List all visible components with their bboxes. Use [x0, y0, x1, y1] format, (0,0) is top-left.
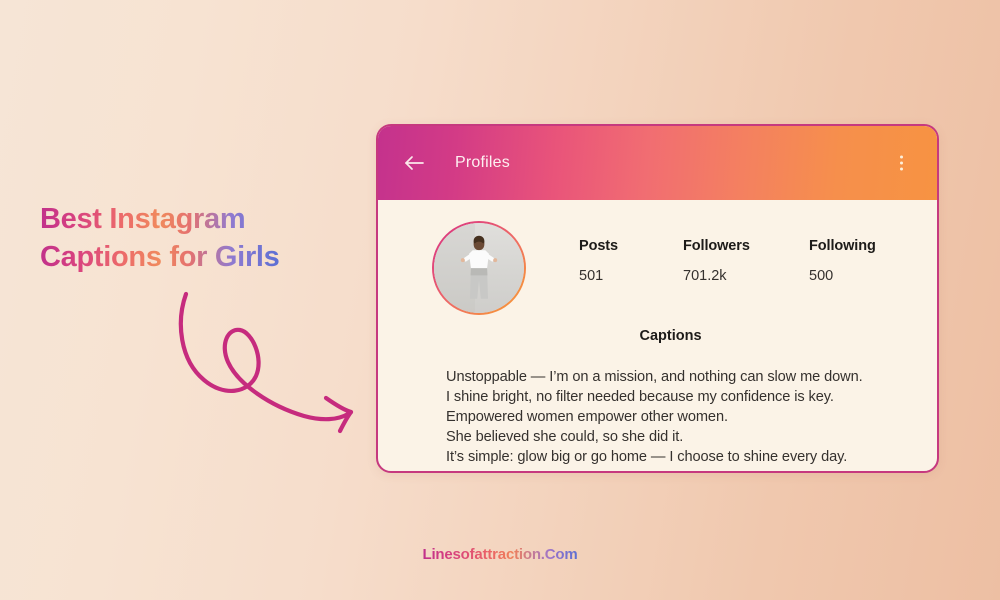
page-title-line-2: Captions for Girls	[40, 238, 280, 276]
stats-row: Posts 501 Followers 701.2k Following 500	[579, 221, 937, 284]
stat-value: 500	[809, 268, 876, 284]
card-body: Posts 501 Followers 701.2k Following 500…	[378, 200, 937, 473]
more-options-icon[interactable]	[894, 152, 909, 175]
stat-posts: Posts 501	[579, 238, 683, 284]
footer-brand: Linesofattraction.Com	[0, 546, 1000, 563]
list-item: She believed she could, so she did it.	[446, 428, 937, 448]
stat-label: Followers	[683, 238, 809, 254]
header-title: Profiles	[455, 154, 510, 172]
stat-following: Following 500	[809, 238, 876, 284]
avatar[interactable]	[432, 221, 526, 315]
back-arrow-icon[interactable]	[402, 153, 426, 173]
list-item: Unstoppable — I’m on a mission, and noth…	[446, 368, 937, 388]
profile-card: Profiles	[376, 124, 939, 473]
page-title-line-1: Best Instagram	[40, 200, 280, 238]
stat-value: 701.2k	[683, 268, 809, 284]
list-item: I shine bright, no filter needed because…	[446, 388, 937, 408]
stat-label: Following	[809, 238, 876, 254]
stat-value: 501	[579, 268, 683, 284]
kebab-dot	[900, 162, 903, 165]
footer-brand-text: Linesofattraction.Com	[423, 546, 578, 563]
captions-list: Unstoppable — I’m on a mission, and noth…	[446, 368, 937, 468]
page-title: Best Instagram Captions for Girls	[40, 200, 280, 277]
stat-followers: Followers 701.2k	[683, 238, 809, 284]
curved-arrow-icon	[170, 288, 365, 473]
avatar-image	[434, 223, 524, 313]
profile-summary-row: Posts 501 Followers 701.2k Following 500	[378, 200, 937, 315]
list-item: Empowered women empower other women.	[446, 408, 937, 428]
kebab-dot	[900, 156, 903, 159]
card-header: Profiles	[378, 126, 937, 200]
kebab-dot	[900, 168, 903, 171]
avatar-figure	[456, 234, 502, 306]
stat-label: Posts	[579, 238, 683, 254]
captions-heading: Captions	[404, 328, 937, 344]
list-item: It’s simple: glow big or go home — I cho…	[446, 448, 937, 468]
